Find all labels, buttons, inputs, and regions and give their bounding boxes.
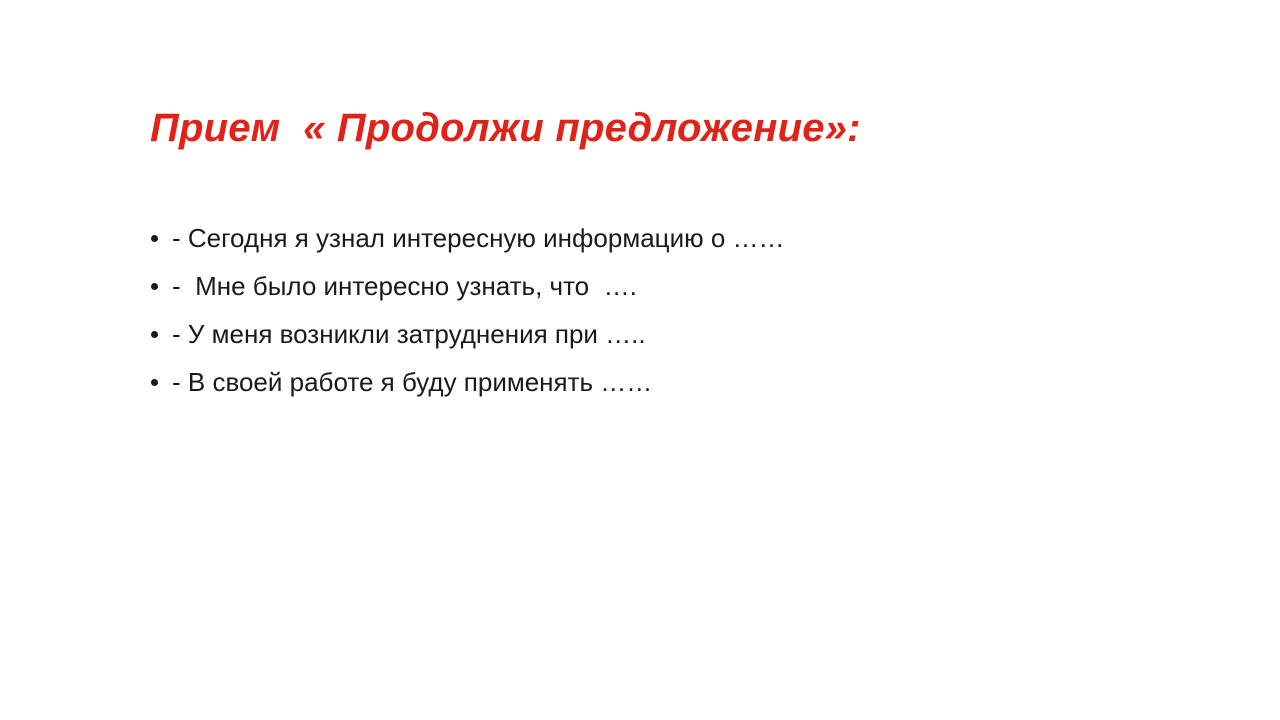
bullet-dot-icon	[151, 235, 158, 242]
list-item: - Мне было интересно узнать, что ….	[150, 262, 1170, 310]
list-item-label: - У меня возникли затруднения при …..	[172, 317, 646, 351]
bullet-dot-icon	[151, 283, 158, 290]
bullet-list: - Сегодня я узнал интересную информацию …	[150, 214, 1170, 406]
bullet-dot-icon	[151, 331, 158, 338]
list-item-label: - Сегодня я узнал интересную информацию …	[172, 221, 785, 255]
slide-canvas: Прием « Продолжи предложение»: - Сегодня…	[0, 0, 1280, 720]
page-title: Прием « Продолжи предложение»:	[150, 104, 1150, 152]
bullet-dot-icon	[151, 379, 158, 386]
list-item: - В своей работе я буду применять ……	[150, 358, 1170, 406]
list-item: - У меня возникли затруднения при …..	[150, 310, 1170, 358]
list-item-label: - В своей работе я буду применять ……	[172, 365, 652, 399]
list-item-label: - Мне было интересно узнать, что ….	[172, 269, 637, 303]
list-item: - Сегодня я узнал интересную информацию …	[150, 214, 1170, 262]
